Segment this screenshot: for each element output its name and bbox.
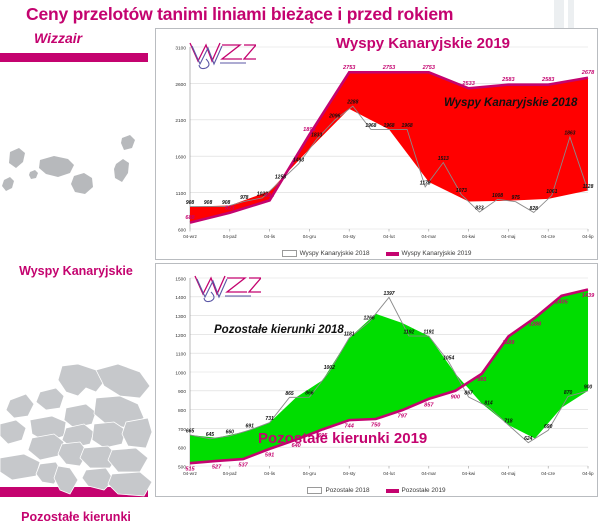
svg-text:688: 688 [185, 215, 195, 221]
svg-text:660: 660 [226, 429, 235, 435]
accent-bar-top [0, 53, 148, 62]
legend-item-2018[interactable]: Pozostałe 2018 [307, 487, 369, 494]
svg-text:1128: 1128 [583, 184, 594, 190]
svg-text:2583: 2583 [501, 77, 515, 83]
svg-text:2533: 2533 [461, 81, 475, 87]
svg-text:1397: 1397 [383, 291, 394, 297]
svg-text:2096: 2096 [328, 114, 340, 120]
svg-text:2753: 2753 [382, 65, 396, 71]
svg-text:797: 797 [398, 414, 408, 420]
svg-text:908: 908 [186, 200, 195, 206]
svg-text:04-maj: 04-maj [501, 234, 515, 239]
svg-text:814: 814 [484, 400, 493, 406]
europe-map-icon [0, 362, 152, 502]
sidebar-item-canary-label: Wyspy Kanaryjskie [0, 264, 152, 278]
svg-text:870: 870 [564, 390, 573, 396]
chart-other-sublabel: Pozostałe kierunki 2018 [214, 324, 344, 336]
svg-text:600: 600 [178, 227, 186, 233]
svg-text:1895: 1895 [303, 127, 316, 133]
svg-text:1968: 1968 [365, 123, 376, 129]
legend-item-2018[interactable]: Wyspy Kanaryjskie 2018 [282, 250, 370, 257]
svg-text:1008: 1008 [492, 193, 503, 199]
svg-text:865: 865 [285, 391, 294, 397]
svg-text:04-cze: 04-cze [541, 234, 555, 239]
svg-text:04-mar: 04-mar [422, 234, 437, 239]
svg-text:665: 665 [186, 428, 195, 434]
svg-text:1968: 1968 [383, 123, 394, 129]
svg-text:1266: 1266 [364, 315, 375, 321]
chart-canary-heading: Wyspy Kanaryjskie 2019 [336, 35, 510, 52]
svg-text:731: 731 [265, 416, 274, 422]
legend-label-2019: Wyspy Kanaryjskie 2019 [402, 250, 472, 257]
svg-text:1181: 1181 [344, 331, 355, 337]
svg-text:690: 690 [544, 424, 553, 430]
legend-swatch-2019 [386, 252, 399, 256]
svg-text:04-mar: 04-mar [422, 471, 437, 476]
svg-text:900: 900 [451, 394, 461, 400]
chart-canary-islands[interactable]: 60011001600210026003100 04-wrz04-paź04-l… [155, 28, 598, 260]
svg-text:900: 900 [584, 384, 593, 390]
svg-text:1833: 1833 [311, 133, 322, 139]
svg-text:1200: 1200 [175, 333, 186, 339]
svg-text:04-gru: 04-gru [303, 471, 317, 476]
chart-canary-plot: 60011001600210026003100 04-wrz04-paź04-l… [156, 29, 597, 259]
svg-text:624: 624 [524, 436, 533, 442]
chart-other-destinations[interactable]: 500600700800900100011001200130014001500 … [155, 263, 598, 497]
svg-text:2678: 2678 [581, 70, 595, 76]
svg-text:866: 866 [305, 391, 314, 397]
chart-other-plot: 500600700800900100011001200130014001500 … [156, 264, 597, 496]
svg-text:04-paź: 04-paź [223, 471, 238, 476]
svg-text:04-wrz: 04-wrz [183, 234, 197, 239]
page-subtitle: Wizzair [34, 30, 82, 46]
svg-text:718: 718 [504, 419, 513, 425]
svg-text:04-sty: 04-sty [343, 234, 356, 239]
svg-text:591: 591 [265, 452, 274, 458]
svg-text:1513: 1513 [438, 156, 449, 162]
svg-text:1405: 1405 [555, 299, 568, 305]
legend-swatch-2018 [282, 250, 297, 257]
svg-text:1493: 1493 [293, 157, 304, 163]
svg-text:1258: 1258 [275, 175, 286, 181]
svg-text:04-maj: 04-maj [501, 471, 515, 476]
svg-text:1439: 1439 [582, 293, 595, 299]
legend-label-2019: Pozostałe 2019 [402, 487, 446, 494]
svg-text:04-kwi: 04-kwi [462, 471, 475, 476]
svg-text:908: 908 [204, 200, 213, 206]
legend-item-2019[interactable]: Pozostałe 2019 [386, 487, 446, 494]
svg-text:800: 800 [178, 408, 186, 414]
svg-text:867: 867 [464, 391, 473, 397]
svg-text:978: 978 [240, 195, 249, 201]
svg-text:537: 537 [238, 463, 248, 469]
svg-text:1100: 1100 [176, 352, 187, 358]
legend-label-2018: Wyspy Kanaryjskie 2018 [300, 250, 370, 257]
svg-text:1189: 1189 [502, 340, 515, 346]
svg-text:04-gru: 04-gru [303, 234, 317, 239]
svg-text:744: 744 [345, 424, 355, 430]
chart-canary-sublabel: Wyspy Kanaryjskie 2018 [444, 97, 577, 109]
canary-islands-map-icon [0, 134, 152, 244]
svg-text:900: 900 [178, 389, 186, 395]
svg-text:1863: 1863 [564, 131, 575, 137]
sidebar-item-rest-label: Pozostałe kierunki [0, 510, 152, 524]
svg-text:1192: 1192 [404, 329, 415, 335]
svg-text:04-lis: 04-lis [264, 471, 276, 476]
svg-text:1073: 1073 [456, 188, 467, 194]
svg-text:1054: 1054 [443, 355, 454, 361]
svg-text:857: 857 [424, 402, 434, 408]
svg-text:04-kwi: 04-kwi [462, 234, 475, 239]
chart-other-legend: Pozostałe 2018 Pozostałe 2019 [156, 487, 597, 494]
svg-text:1061: 1061 [546, 189, 557, 195]
svg-text:1968: 1968 [402, 123, 413, 129]
svg-text:2583: 2583 [541, 77, 555, 83]
page-title: Ceny przelotów tanimi liniami bieżące i … [26, 4, 566, 25]
svg-text:04-lip: 04-lip [582, 471, 594, 476]
svg-text:1178: 1178 [420, 180, 431, 186]
svg-text:527: 527 [212, 464, 222, 470]
legend-swatch-2018 [307, 487, 322, 494]
svg-text:828: 828 [530, 206, 539, 212]
svg-text:600: 600 [178, 446, 186, 452]
svg-text:1600: 1600 [175, 155, 186, 161]
chart-other-heading: Pozostałe kierunki 2019 [258, 430, 427, 447]
svg-text:750: 750 [371, 423, 381, 429]
svg-text:691: 691 [246, 424, 255, 430]
svg-text:2753: 2753 [422, 65, 436, 71]
svg-text:1288: 1288 [529, 321, 542, 327]
svg-text:975: 975 [511, 195, 520, 201]
svg-text:1000: 1000 [175, 370, 186, 376]
svg-text:04-lis: 04-lis [264, 234, 276, 239]
svg-text:04-lip: 04-lip [582, 234, 594, 239]
svg-text:1300: 1300 [175, 314, 186, 320]
svg-text:2100: 2100 [175, 118, 186, 124]
svg-text:2753: 2753 [342, 65, 356, 71]
svg-text:1100: 1100 [176, 191, 187, 197]
svg-text:833: 833 [475, 206, 484, 212]
svg-text:645: 645 [206, 432, 215, 438]
svg-text:993: 993 [265, 193, 275, 199]
chart-canary-legend: Wyspy Kanaryjskie 2018 Wyspy Kanaryjskie… [156, 250, 597, 257]
svg-text:1191: 1191 [423, 330, 434, 336]
svg-text:2600: 2600 [175, 82, 186, 88]
legend-swatch-2019 [386, 489, 399, 493]
svg-text:04-lut: 04-lut [383, 234, 395, 239]
svg-text:2288: 2288 [346, 100, 358, 106]
svg-text:1500: 1500 [175, 276, 186, 282]
legend-item-2019[interactable]: Wyspy Kanaryjskie 2019 [386, 250, 472, 257]
svg-text:515: 515 [185, 467, 195, 473]
svg-text:04-cze: 04-cze [541, 471, 555, 476]
svg-text:3100: 3100 [175, 45, 186, 51]
svg-text:04-paź: 04-paź [223, 234, 238, 239]
svg-text:04-lut: 04-lut [383, 471, 395, 476]
sidebar: Wyspy Kanaryjskie [0, 62, 152, 487]
svg-text:991: 991 [477, 377, 486, 383]
svg-text:823: 823 [225, 205, 235, 211]
legend-label-2018: Pozostałe 2018 [325, 487, 369, 494]
svg-text:1400: 1400 [175, 295, 186, 301]
svg-text:04-sty: 04-sty [343, 471, 356, 476]
svg-text:1002: 1002 [324, 365, 335, 371]
